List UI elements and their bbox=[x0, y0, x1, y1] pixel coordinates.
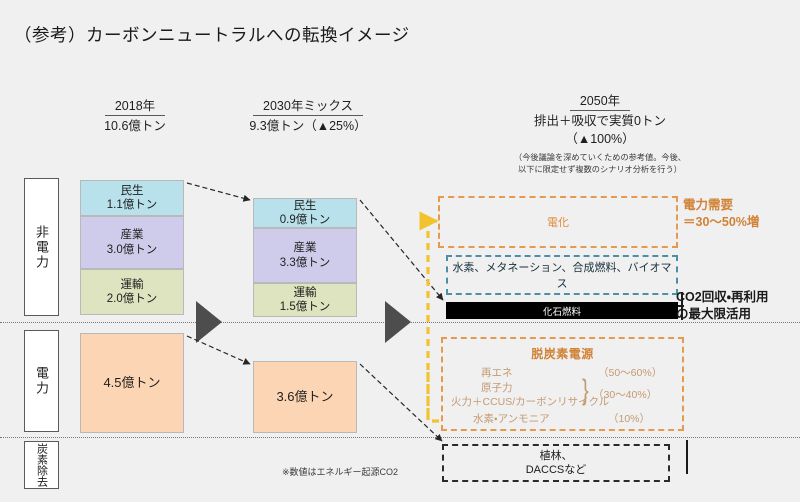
decarbonized-power-title: 脱炭素電源 bbox=[443, 345, 682, 362]
bar-2030-sangyo-name: 産業 bbox=[294, 241, 317, 255]
total-label-2050-line2: （▲100%） bbox=[440, 131, 760, 147]
total-label-2018: 10.6億トン bbox=[70, 118, 200, 134]
total-label-2030: 9.3億トン（▲25%） bbox=[228, 118, 388, 134]
column-header-2018: 2018年 10.6億トン bbox=[70, 96, 200, 134]
side-label-carbon-removal: 炭素除去 bbox=[24, 441, 59, 489]
column-header-2030: 2030年ミックス 9.3億トン（▲25%） bbox=[228, 96, 388, 134]
bar-2018-sangyo: 産業 3.0億トン bbox=[80, 216, 184, 269]
bar-2030-minsei-value: 0.9億トン bbox=[280, 213, 331, 227]
annotation-power-demand: 電力需要 ＝30〜50%増 bbox=[683, 197, 759, 231]
bar-2030-minsei: 民生 0.9億トン bbox=[253, 198, 357, 228]
page-title: （参考）カーボンニュートラルへの転換イメージ bbox=[14, 22, 410, 47]
year-label-2050: 2050年 bbox=[570, 93, 630, 111]
bar-2018-minsei-value: 1.1億トン bbox=[107, 198, 158, 212]
carbon-removal-line2: DACCSなど bbox=[526, 463, 587, 477]
annotation-co2-line1: CO2回収・再利用 bbox=[676, 289, 768, 306]
bar-2018-unyu-name: 運輸 bbox=[121, 278, 144, 292]
bar-2018-electric-value: 4.5億トン bbox=[103, 375, 160, 391]
annotation-co2-line2: の最大限活用 bbox=[676, 306, 768, 323]
bar-2018-sangyo-value: 3.0億トン bbox=[107, 243, 158, 257]
annotation-power-demand-line1: 電力需要 bbox=[683, 197, 759, 214]
divider-electric-removal bbox=[0, 437, 800, 438]
decarbonized-power-rows: 再エネ （50〜60%） 原子力 火力＋CCUS/カーボンリサイクル } （30… bbox=[443, 365, 682, 427]
side-label-carbon-removal-left: 除去 bbox=[34, 465, 50, 487]
power-share-hydrogen-ammonia: （10%） bbox=[608, 411, 650, 426]
bar-2030-electric: 3.6億トン bbox=[253, 361, 357, 433]
bar-2030-electric-value: 3.6億トン bbox=[276, 389, 333, 405]
bar-2030-sangyo: 産業 3.3億トン bbox=[253, 228, 357, 283]
yellow-arrow-icon bbox=[428, 221, 437, 413]
brace-icon: } bbox=[582, 377, 589, 406]
bar-2018-electric: 4.5億トン bbox=[80, 333, 184, 433]
bar-2030-unyu-value: 1.5億トン bbox=[280, 300, 331, 314]
box-hydrogen-fuels: 水素、メタネーション、合成燃料、バイオマス bbox=[446, 255, 678, 295]
total-label-2050-line1: 排出＋吸収で実質0トン bbox=[440, 113, 760, 129]
bracket-removal-icon bbox=[686, 440, 693, 474]
bar-2018-minsei: 民生 1.1億トン bbox=[80, 180, 184, 216]
box-electrification: 電化 bbox=[438, 196, 678, 248]
year-label-2018: 2018年 bbox=[105, 98, 165, 116]
year-label-2030: 2030年ミックス bbox=[253, 98, 363, 116]
power-source-renewables: 再エネ bbox=[481, 365, 513, 380]
scenario-note-line2: 以下に限定せず複数のシナリオ分析を行う） bbox=[440, 164, 760, 175]
power-share-nuclear-thermal: （30〜40%） bbox=[593, 387, 657, 402]
transition-arrow-icon-2 bbox=[385, 301, 411, 343]
bar-2030-unyu-name: 運輸 bbox=[294, 286, 317, 300]
yellow-branch bbox=[428, 413, 440, 421]
annotation-co2-capture: CO2回収・再利用 の最大限活用 bbox=[676, 289, 768, 323]
box-fossil-fuel: 化石燃料 bbox=[446, 302, 678, 319]
scenario-note-line1: （今後議論を深めていくための参考値。今後、 bbox=[440, 152, 760, 163]
power-source-nuclear: 原子力 bbox=[481, 380, 513, 395]
carbon-removal-line1: 植林、 bbox=[540, 449, 573, 463]
power-source-hydrogen-ammonia: 水素・アンモニア bbox=[473, 411, 550, 426]
bar-2030-unyu: 運輸 1.5億トン bbox=[253, 283, 357, 317]
box-decarbonized-power: 脱炭素電源 再エネ （50〜60%） 原子力 火力＋CCUS/カーボンリサイクル… bbox=[441, 337, 684, 431]
box-carbon-removal: 植林、 DACCSなど bbox=[442, 444, 670, 482]
side-label-electric: 電力 bbox=[24, 330, 59, 432]
bar-2018-unyu-value: 2.0億トン bbox=[107, 292, 158, 306]
transition-arrow-icon-1 bbox=[196, 301, 222, 343]
bar-2030-sangyo-value: 3.3億トン bbox=[280, 256, 331, 270]
bar-2018-sangyo-name: 産業 bbox=[121, 228, 144, 242]
side-label-carbon-removal-right: 炭素 bbox=[34, 443, 50, 465]
annotation-power-demand-line2: ＝30〜50%増 bbox=[683, 214, 759, 231]
footnote: ※数値はエネルギー起源CO2 bbox=[282, 465, 398, 478]
bar-2030-minsei-name: 民生 bbox=[294, 199, 317, 213]
connector-nonelec-2030-2050 bbox=[360, 200, 443, 300]
bar-2018-minsei-name: 民生 bbox=[121, 184, 144, 198]
column-header-2050: 2050年 排出＋吸収で実質0トン （▲100%） （今後議論を深めていくための… bbox=[440, 91, 760, 175]
connector-elec-2030-2050 bbox=[360, 364, 442, 441]
power-share-renewables: （50〜60%） bbox=[598, 365, 662, 380]
connector-nonelec-2018-2030 bbox=[187, 183, 250, 200]
side-label-non-electric: 非電力 bbox=[24, 178, 59, 316]
bar-2018-unyu: 運輸 2.0億トン bbox=[80, 269, 184, 315]
